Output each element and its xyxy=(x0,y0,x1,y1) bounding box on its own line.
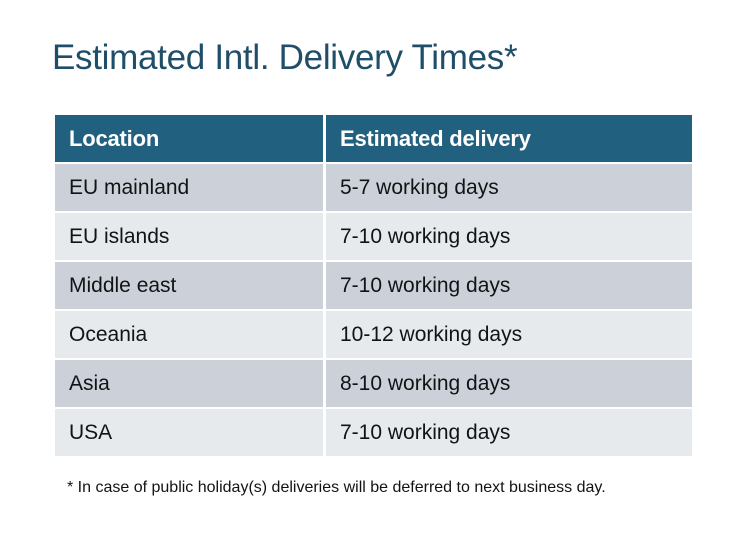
delivery-times-table: Location Estimated delivery EU mainland … xyxy=(52,113,695,458)
table-header-row: Location Estimated delivery xyxy=(55,115,692,162)
table-header: Location Estimated delivery xyxy=(55,115,692,162)
table-row: EU islands 7-10 working days xyxy=(55,213,692,260)
cell-location: USA xyxy=(55,409,323,456)
table-row: Middle east 7-10 working days xyxy=(55,262,692,309)
table-row: Oceania 10-12 working days xyxy=(55,311,692,358)
cell-location: EU islands xyxy=(55,213,323,260)
page-title: Estimated Intl. Delivery Times* xyxy=(52,36,517,80)
table-row: USA 7-10 working days xyxy=(55,409,692,456)
cell-delivery: 8-10 working days xyxy=(326,360,692,407)
cell-location: EU mainland xyxy=(55,164,323,211)
cell-location: Middle east xyxy=(55,262,323,309)
column-header-location: Location xyxy=(55,115,323,162)
column-header-estimated-delivery: Estimated delivery xyxy=(326,115,692,162)
table-row: Asia 8-10 working days xyxy=(55,360,692,407)
cell-delivery: 5-7 working days xyxy=(326,164,692,211)
footnote: * In case of public holiday(s) deliverie… xyxy=(67,477,606,499)
cell-delivery: 7-10 working days xyxy=(326,409,692,456)
delivery-times-page: Estimated Intl. Delivery Times* Location… xyxy=(0,0,745,536)
cell-location: Asia xyxy=(55,360,323,407)
cell-location: Oceania xyxy=(55,311,323,358)
table-body: EU mainland 5-7 working days EU islands … xyxy=(55,164,692,456)
cell-delivery: 7-10 working days xyxy=(326,213,692,260)
cell-delivery: 10-12 working days xyxy=(326,311,692,358)
table-row: EU mainland 5-7 working days xyxy=(55,164,692,211)
cell-delivery: 7-10 working days xyxy=(326,262,692,309)
